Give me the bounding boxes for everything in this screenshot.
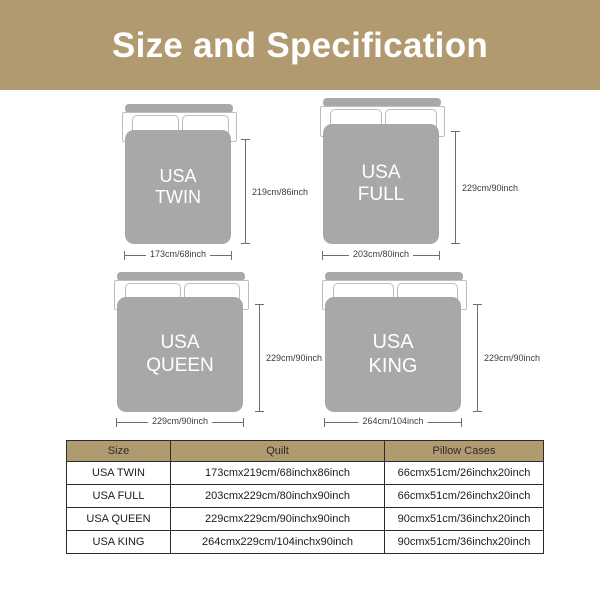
width-dimension-label: 264cm/104inch <box>358 416 427 426</box>
cell-size: USA QUEEN <box>67 508 171 531</box>
spec-table: Size Quilt Pillow Cases USA TWIN 173cmx2… <box>66 440 544 554</box>
width-dimension-usa-king: 264cm/104inch <box>324 417 462 428</box>
cell-pillow: 90cmx51cm/36inchx20inch <box>385 531 544 554</box>
table-row: USA KING 264cmx229cm/104inchx90inch 90cm… <box>67 531 544 554</box>
bed-figure-usa-full: USA FULL 229cm/90inch 203cm/80inch <box>320 98 520 264</box>
width-dimension-label: 173cm/68inch <box>146 249 210 259</box>
quilt-label-line1: USA <box>358 162 404 184</box>
bed-diagram-grid: USA TWIN 219cm/86inch 173cm/68inch <box>0 90 600 430</box>
quilt-label-line2: KING <box>369 355 418 379</box>
column-header-size: Size <box>67 441 171 462</box>
height-dimension-label: 229cm/90inch <box>484 353 540 363</box>
quilt-area-usa-queen: USA QUEEN <box>117 297 243 412</box>
column-header-quilt: Quilt <box>171 441 385 462</box>
bed-figure-usa-queen: USA QUEEN 229cm/90inch 229cm/90inch <box>114 272 324 424</box>
cell-pillow: 90cmx51cm/36inchx20inch <box>385 508 544 531</box>
width-dimension-label: 203cm/80inch <box>349 249 413 259</box>
quilt-label-line1: USA <box>155 166 201 187</box>
table-header-row: Size Quilt Pillow Cases <box>67 441 544 462</box>
bed-illustration-usa-twin: USA TWIN <box>122 104 237 249</box>
table-row: USA QUEEN 229cmx229cm/90inchx90inch 90cm… <box>67 508 544 531</box>
quilt-label-line2: FULL <box>358 184 404 206</box>
cell-quilt: 229cmx229cm/90inchx90inch <box>171 508 385 531</box>
quilt-area-usa-king: USA KING <box>325 297 461 412</box>
bed-illustration-usa-full: USA FULL <box>320 98 445 250</box>
quilt-area-usa-full: USA FULL <box>323 124 439 244</box>
quilt-label: USA FULL <box>358 162 404 207</box>
table-row: USA TWIN 173cmx219cm/68inchx86inch 66cmx… <box>67 462 544 485</box>
bed-illustration-usa-king: USA KING <box>322 272 467 417</box>
cell-quilt: 264cmx229cm/104inchx90inch <box>171 531 385 554</box>
height-dimension-label: 229cm/90inch <box>462 183 518 193</box>
page-title: Size and Specification <box>112 28 488 63</box>
width-dimension-label: 229cm/90inch <box>148 416 212 426</box>
cell-quilt: 203cmx229cm/80inchx90inch <box>171 485 385 508</box>
cell-size: USA FULL <box>67 485 171 508</box>
width-dimension-usa-queen: 229cm/90inch <box>116 417 244 428</box>
quilt-label-line2: TWIN <box>155 187 201 208</box>
header-banner: Size and Specification <box>0 0 600 90</box>
table-row: USA FULL 203cmx229cm/80inchx90inch 66cmx… <box>67 485 544 508</box>
quilt-label: USA TWIN <box>155 166 201 208</box>
cell-size: USA KING <box>67 531 171 554</box>
quilt-label: USA QUEEN <box>146 332 214 377</box>
height-dimension-label: 229cm/90inch <box>266 353 322 363</box>
cell-quilt: 173cmx219cm/68inchx86inch <box>171 462 385 485</box>
width-dimension-usa-full: 203cm/80inch <box>322 250 440 261</box>
spec-table-container: Size Quilt Pillow Cases USA TWIN 173cmx2… <box>66 440 543 554</box>
bed-figure-usa-twin: USA TWIN 219cm/86inch 173cm/68inch <box>122 104 302 264</box>
quilt-area-usa-twin: USA TWIN <box>125 130 231 244</box>
quilt-label-line1: USA <box>369 331 418 355</box>
bed-illustration-usa-queen: USA QUEEN <box>114 272 249 417</box>
cell-size: USA TWIN <box>67 462 171 485</box>
bed-figure-usa-king: USA KING 229cm/90inch 264cm/104inch <box>322 272 542 424</box>
quilt-label-line2: QUEEN <box>146 355 214 377</box>
cell-pillow: 66cmx51cm/26inchx20inch <box>385 485 544 508</box>
quilt-label: USA KING <box>369 331 418 378</box>
cell-pillow: 66cmx51cm/26inchx20inch <box>385 462 544 485</box>
width-dimension-usa-twin: 173cm/68inch <box>124 250 232 261</box>
quilt-label-line1: USA <box>146 332 214 354</box>
height-dimension-label: 219cm/86inch <box>252 187 308 197</box>
column-header-pillow-cases: Pillow Cases <box>385 441 544 462</box>
